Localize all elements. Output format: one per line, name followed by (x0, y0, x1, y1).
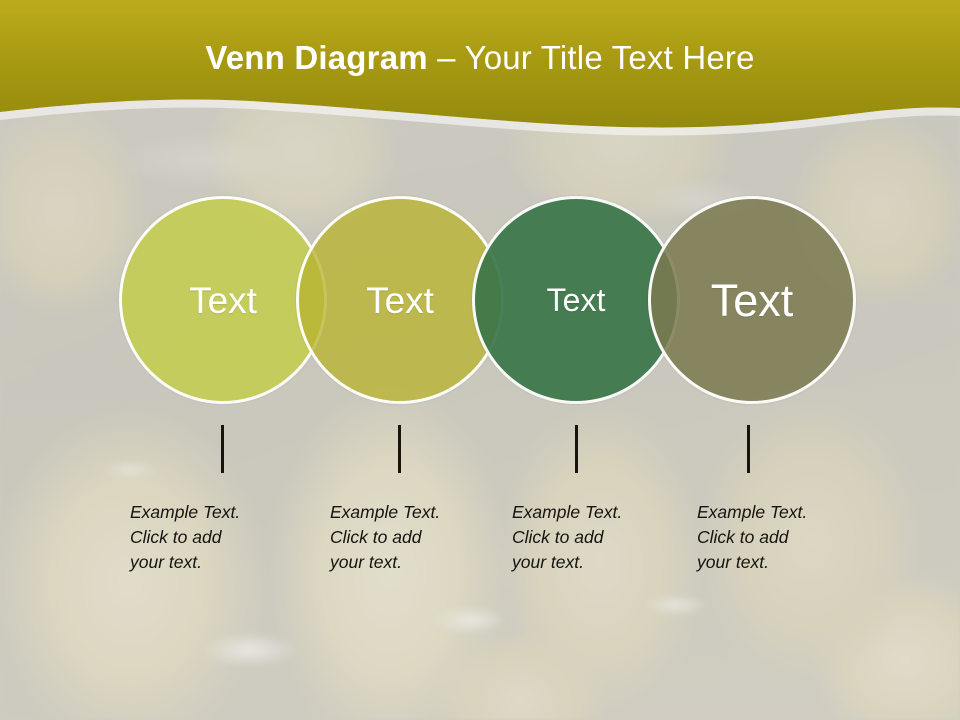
caption-2-line-3: your text. (330, 550, 495, 575)
connector-line-1 (221, 425, 224, 473)
caption-1[interactable]: Example Text. Click to add your text. (130, 500, 295, 575)
slide-canvas: Venn Diagram – Your Title Text Here Text… (0, 0, 960, 720)
venn-circle-3-label: Text (547, 284, 606, 316)
caption-4-line-1: Example Text. (697, 500, 862, 525)
caption-1-line-3: your text. (130, 550, 295, 575)
caption-2-line-2: Click to add (330, 525, 495, 550)
venn-diagram: Text Text Text Text (0, 0, 960, 440)
connector-line-3 (575, 425, 578, 473)
venn-circle-4[interactable]: Text (648, 196, 856, 404)
caption-3-line-1: Example Text. (512, 500, 677, 525)
caption-2[interactable]: Example Text. Click to add your text. (330, 500, 495, 575)
caption-1-line-1: Example Text. (130, 500, 295, 525)
caption-4-line-2: Click to add (697, 525, 862, 550)
venn-circle-1-label: Text (189, 282, 257, 319)
connector-line-4 (747, 425, 750, 473)
caption-3[interactable]: Example Text. Click to add your text. (512, 500, 677, 575)
caption-2-line-1: Example Text. (330, 500, 495, 525)
venn-circle-2-label: Text (366, 282, 434, 319)
venn-circle-4-label: Text (711, 278, 794, 323)
caption-3-line-2: Click to add (512, 525, 677, 550)
caption-1-line-2: Click to add (130, 525, 295, 550)
connector-line-2 (398, 425, 401, 473)
caption-4[interactable]: Example Text. Click to add your text. (697, 500, 862, 575)
caption-4-line-3: your text. (697, 550, 862, 575)
caption-3-line-3: your text. (512, 550, 677, 575)
